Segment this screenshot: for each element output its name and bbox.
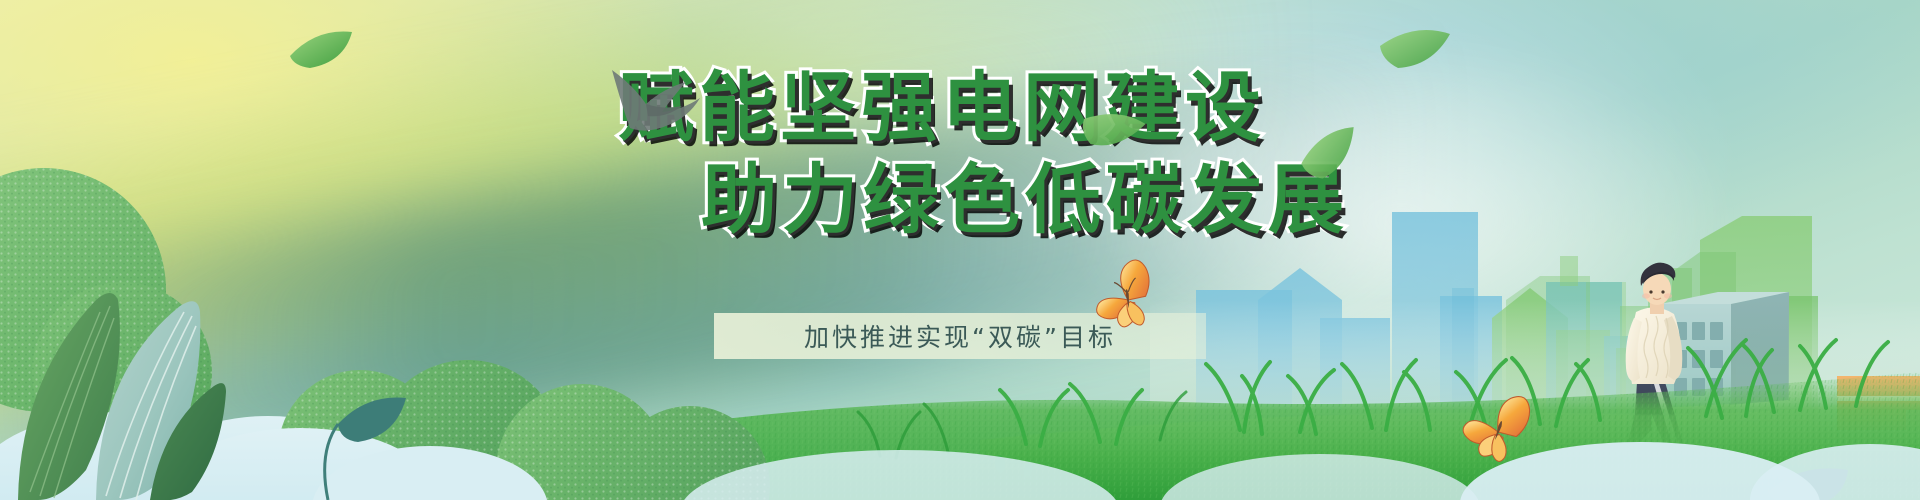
- subtitle-band: [714, 313, 1206, 359]
- eco-power-grid-banner: 加快推进实现“双碳”目标 赋能坚强电网建设 助力绿色低碳发展: [0, 0, 1920, 500]
